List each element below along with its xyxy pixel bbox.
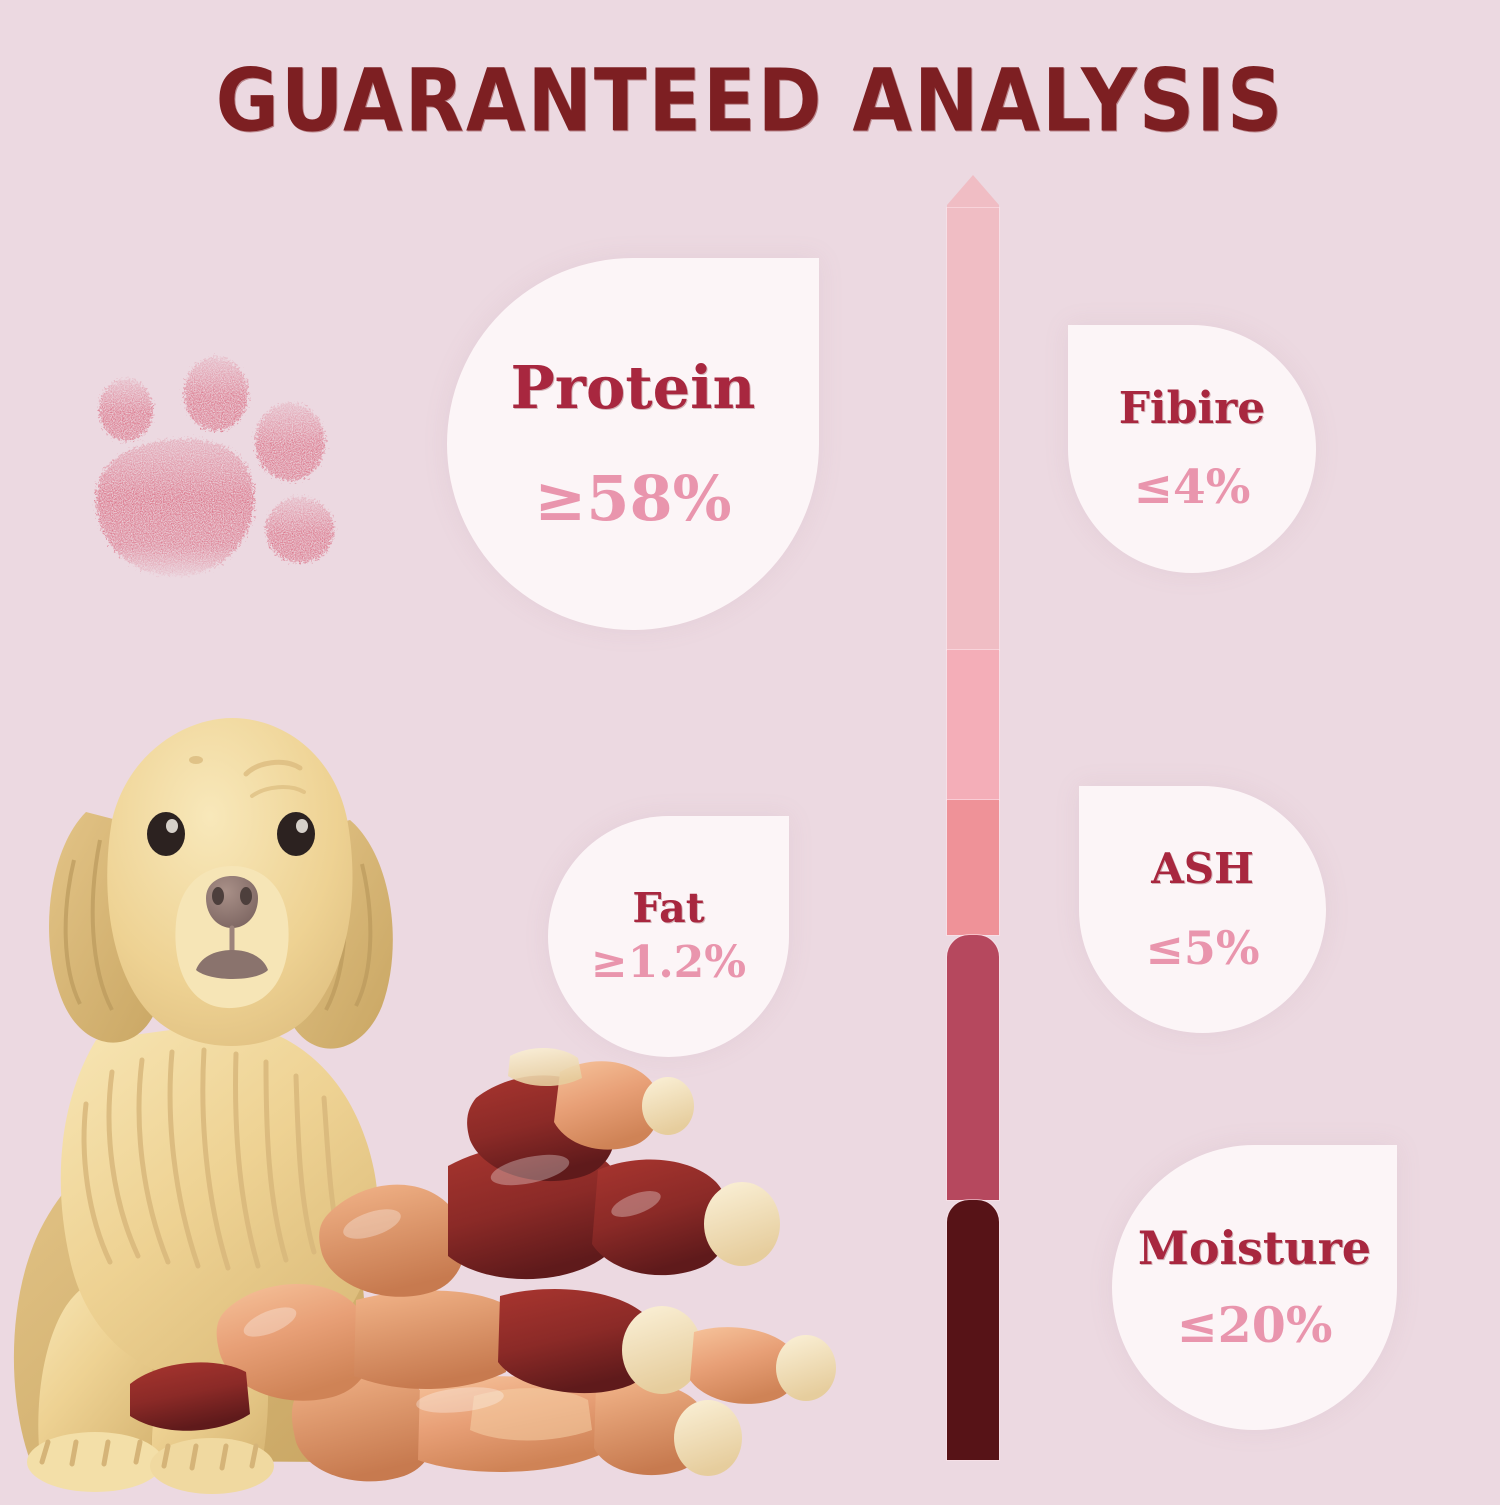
nutrient-badge-protein[interactable]: Protein ≥58%	[447, 258, 819, 630]
product-artwork	[0, 700, 880, 1500]
nutrient-value-fibire: ≤4%	[1134, 464, 1251, 511]
nutrient-value-ash: ≤5%	[1145, 925, 1259, 971]
column-segment-4	[947, 935, 999, 1200]
nutrient-gradient-column	[947, 175, 999, 1460]
column-segment-1	[947, 208, 999, 650]
nutrient-label-fibire: Fibire	[1119, 387, 1266, 431]
nutrient-value-moisture: ≤20%	[1177, 1301, 1333, 1350]
nutrient-value-protein: ≥58%	[534, 468, 731, 530]
arrow-tip-icon	[947, 175, 999, 208]
column-segment-3	[947, 800, 999, 935]
nutrient-badge-moisture[interactable]: Moisture ≤20%	[1112, 1145, 1397, 1430]
nutrient-badge-fibire[interactable]: Fibire ≤4%	[1068, 325, 1316, 573]
nutrient-label-protein: Protein	[511, 358, 756, 417]
nutrient-label-ash: ASH	[1151, 848, 1254, 890]
paw-print-icon	[78, 338, 350, 600]
page-title: GUARANTEED ANALYSIS	[0, 52, 1500, 152]
column-segment-5	[947, 1200, 999, 1460]
nutrient-badge-ash[interactable]: ASH ≤5%	[1079, 786, 1326, 1033]
nutrient-label-moisture: Moisture	[1138, 1225, 1371, 1271]
column-segment-2	[947, 650, 999, 800]
